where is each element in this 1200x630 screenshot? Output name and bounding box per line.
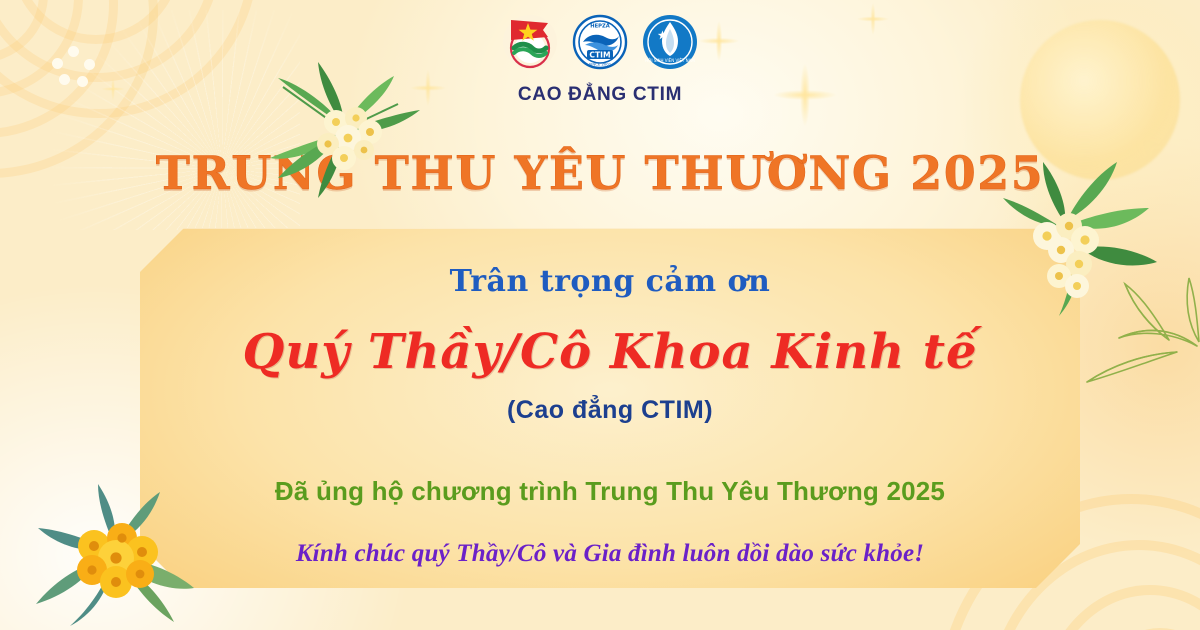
ctim-hepza-logo: HEPZA CTIM SINCE 2001 xyxy=(572,14,628,70)
bamboo-leaf-lineart-icon xyxy=(1085,270,1200,470)
svg-text:HỘI SINH VIÊN VIỆT NAM: HỘI SINH VIÊN VIỆT NAM xyxy=(645,58,695,63)
wish-line: Kính chúc quý Thầy/Cô và Gia đình luôn d… xyxy=(140,540,1080,568)
certificate-card-content: Trân trọng cảm ơn Quý Thầy/Cô Khoa Kinh … xyxy=(140,228,1080,588)
recipient-name: Quý Thầy/Cô Khoa Kinh tế xyxy=(140,324,1080,380)
hoi-sinh-vien-viet-nam-logo: HỘI SINH VIÊN VIỆT NAM xyxy=(642,14,698,70)
thanks-line: Trân trọng cảm ơn xyxy=(140,264,1080,299)
organization-name: CAO ĐẲNG CTIM xyxy=(0,84,1200,106)
svg-text:CTIM: CTIM xyxy=(589,50,610,59)
school-name: (Cao đẳng CTIM) xyxy=(140,396,1080,425)
supported-line: Đã ủng hộ chương trình Trung Thu Yêu Thư… xyxy=(140,476,1080,507)
svg-text:SINCE 2001: SINCE 2001 xyxy=(589,62,612,67)
svg-text:HEPZA: HEPZA xyxy=(590,24,609,30)
greeting-card-canvas: HEPZA CTIM SINCE 2001 HỘI SINH VIÊN VIỆT… xyxy=(0,0,1200,630)
page-title: TRUNG THU YÊU THƯƠNG 2025 xyxy=(0,146,1200,200)
certificate-card: Trân trọng cảm ơn Quý Thầy/Cô Khoa Kinh … xyxy=(140,228,1080,588)
doan-thanh-nien-logo xyxy=(502,14,558,70)
logo-row: HEPZA CTIM SINCE 2001 HỘI SINH VIÊN VIỆT… xyxy=(0,14,1200,70)
